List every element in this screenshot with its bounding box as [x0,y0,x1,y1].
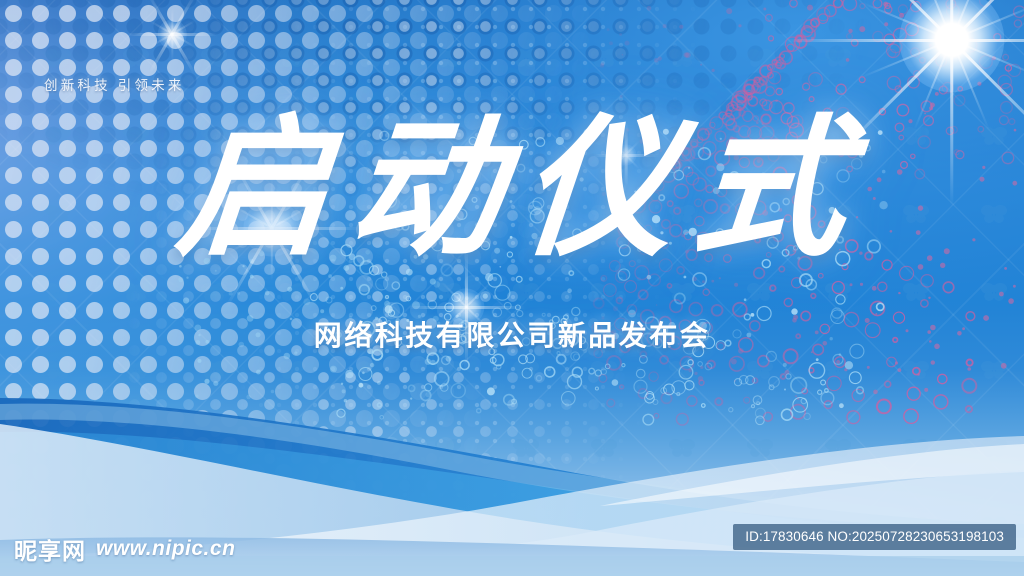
page-title: 启动仪式 [0,112,1024,264]
flare-ray [148,0,195,74]
flare-core [899,0,1004,93]
flare-ray [148,0,195,74]
watermark: 昵享网 www.nipic.cn [14,532,235,566]
flare-ray [786,39,1024,42]
flare-ray [171,8,173,61]
flare-ray [127,33,217,36]
tagline-small-glow-icon [126,0,218,80]
subtitle-text: 网络科技有限公司新品发布会 [0,314,1024,354]
watermark-logo: 昵享网 [14,532,86,566]
flare-ray [149,20,196,48]
tagline-text: 创新科技 引领未来 [44,74,185,94]
flare-ray [861,2,1024,78]
flare-ray [149,20,196,48]
flare-core [158,20,187,49]
watermark-url: www.nipic.cn [96,537,235,561]
poster-canvas: 创新科技 引领未来 启动仪式 网络科技有限公司新品发布会 昵享网 www.nip… [0,0,1024,576]
flare-ray [861,2,1024,78]
id-badge: ID:17830646 NO:20250728230653198103 [733,524,1016,550]
flare-ray [408,306,525,309]
